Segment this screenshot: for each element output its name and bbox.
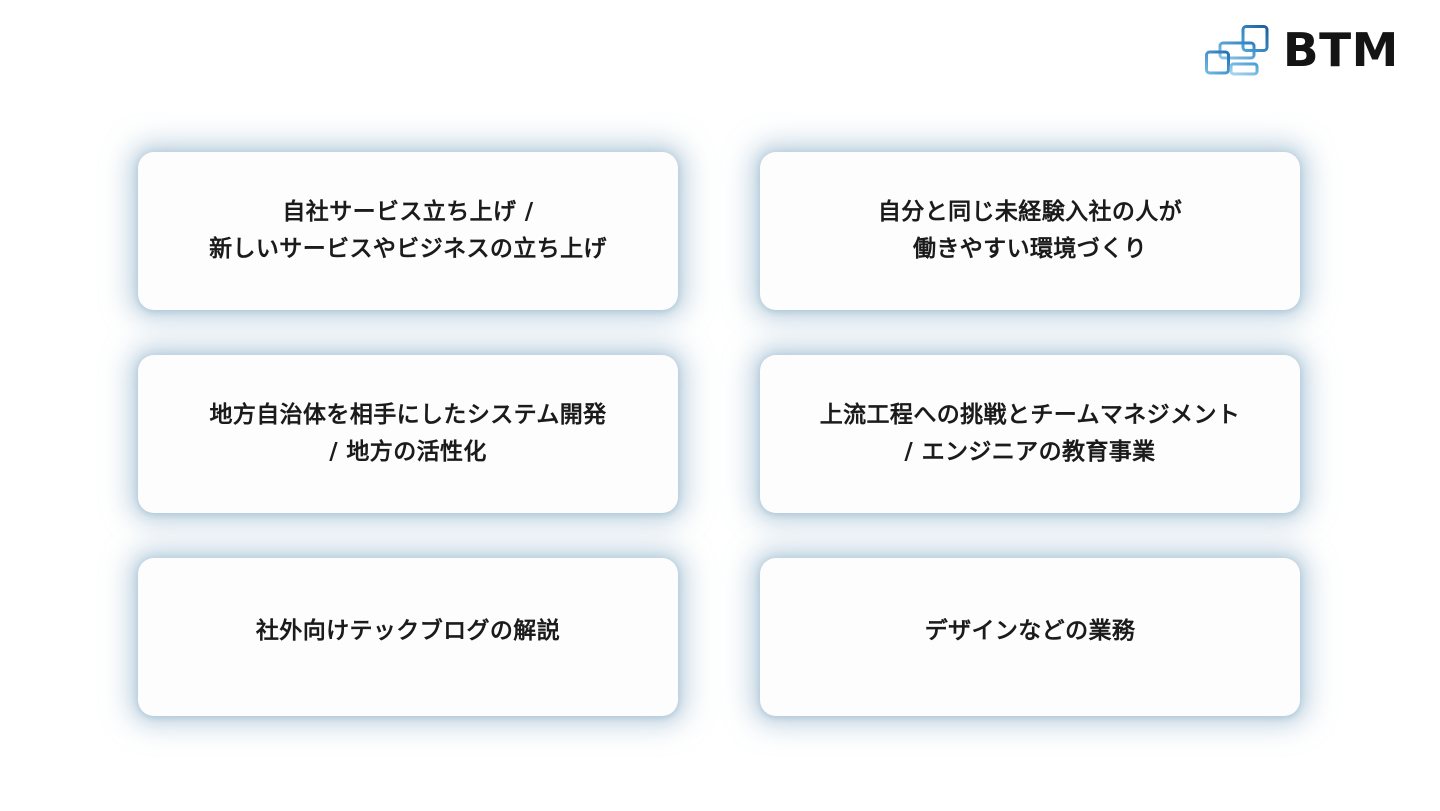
card-self-service-launch[interactable]: 自社サービス立ち上げ / 新しいサービスやビジネスの立ち上げ	[138, 152, 678, 310]
card-text: 上流工程への挑戦とチームマネジメント / エンジニアの教育事業	[820, 397, 1241, 472]
brand-logo: BTM	[1204, 22, 1398, 78]
card-design-work[interactable]: デザインなどの業務	[760, 558, 1300, 716]
card-local-government-system-development[interactable]: 地方自治体を相手にしたシステム開発 / 地方の活性化	[138, 355, 678, 513]
card-text: 自分と同じ未経験入社の人が 働きやすい環境づくり	[878, 194, 1182, 269]
card-grid: 自社サービス立ち上げ / 新しいサービスやビジネスの立ち上げ 自分と同じ未経験入…	[138, 152, 1300, 716]
card-inexperienced-hire-environment[interactable]: 自分と同じ未経験入社の人が 働きやすい環境づくり	[760, 152, 1300, 310]
card-text: 自社サービス立ち上げ / 新しいサービスやビジネスの立ち上げ	[209, 194, 607, 269]
card-text: デザインなどの業務	[925, 613, 1136, 650]
card-external-tech-blog[interactable]: 社外向けテックブログの解説	[138, 558, 678, 716]
card-text: 地方自治体を相手にしたシステム開発 / 地方の活性化	[209, 397, 606, 472]
card-text: 社外向けテックブログの解説	[256, 613, 560, 650]
brand-name: BTM	[1283, 27, 1399, 73]
card-upstream-process-team-management[interactable]: 上流工程への挑戦とチームマネジメント / エンジニアの教育事業	[760, 355, 1300, 513]
overlapping-rounded-squares-icon	[1204, 24, 1270, 76]
